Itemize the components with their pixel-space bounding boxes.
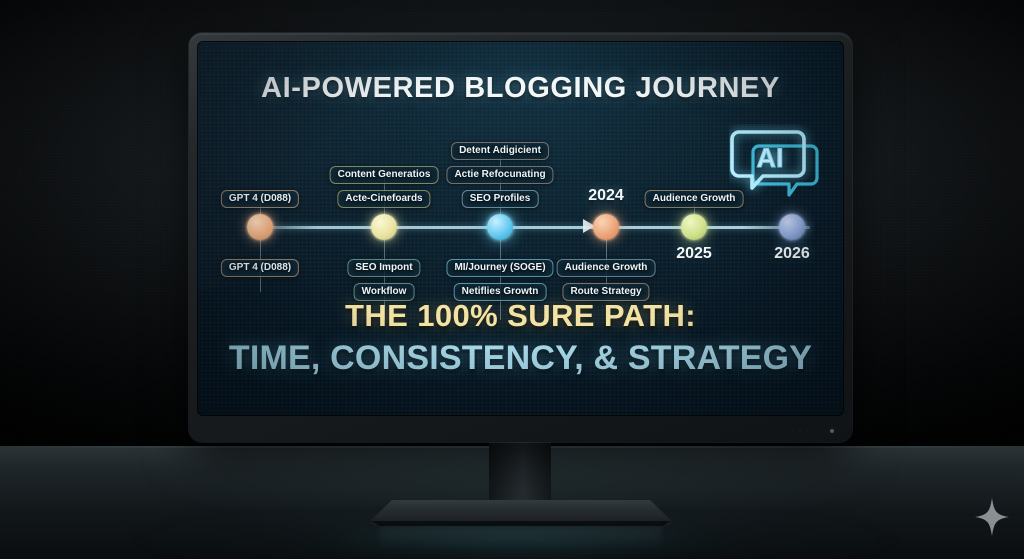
monitor-screen[interactable]: AI-POWERED BLOGGING JOURNEY GPT 4 (D088)… <box>198 42 843 415</box>
monitor-brand-text: · · · · · <box>784 428 818 434</box>
scene: · · · · · AI-POWERED BLOGGING JOURNEY GP… <box>0 0 1024 559</box>
sparkle-icon <box>975 498 1009 536</box>
monitor: · · · · · AI-POWERED BLOGGING JOURNEY GP… <box>189 33 852 442</box>
monitor-power-led <box>830 429 834 433</box>
monitor-stand-neck <box>489 438 551 508</box>
monitor-stand-reflection <box>380 526 662 550</box>
